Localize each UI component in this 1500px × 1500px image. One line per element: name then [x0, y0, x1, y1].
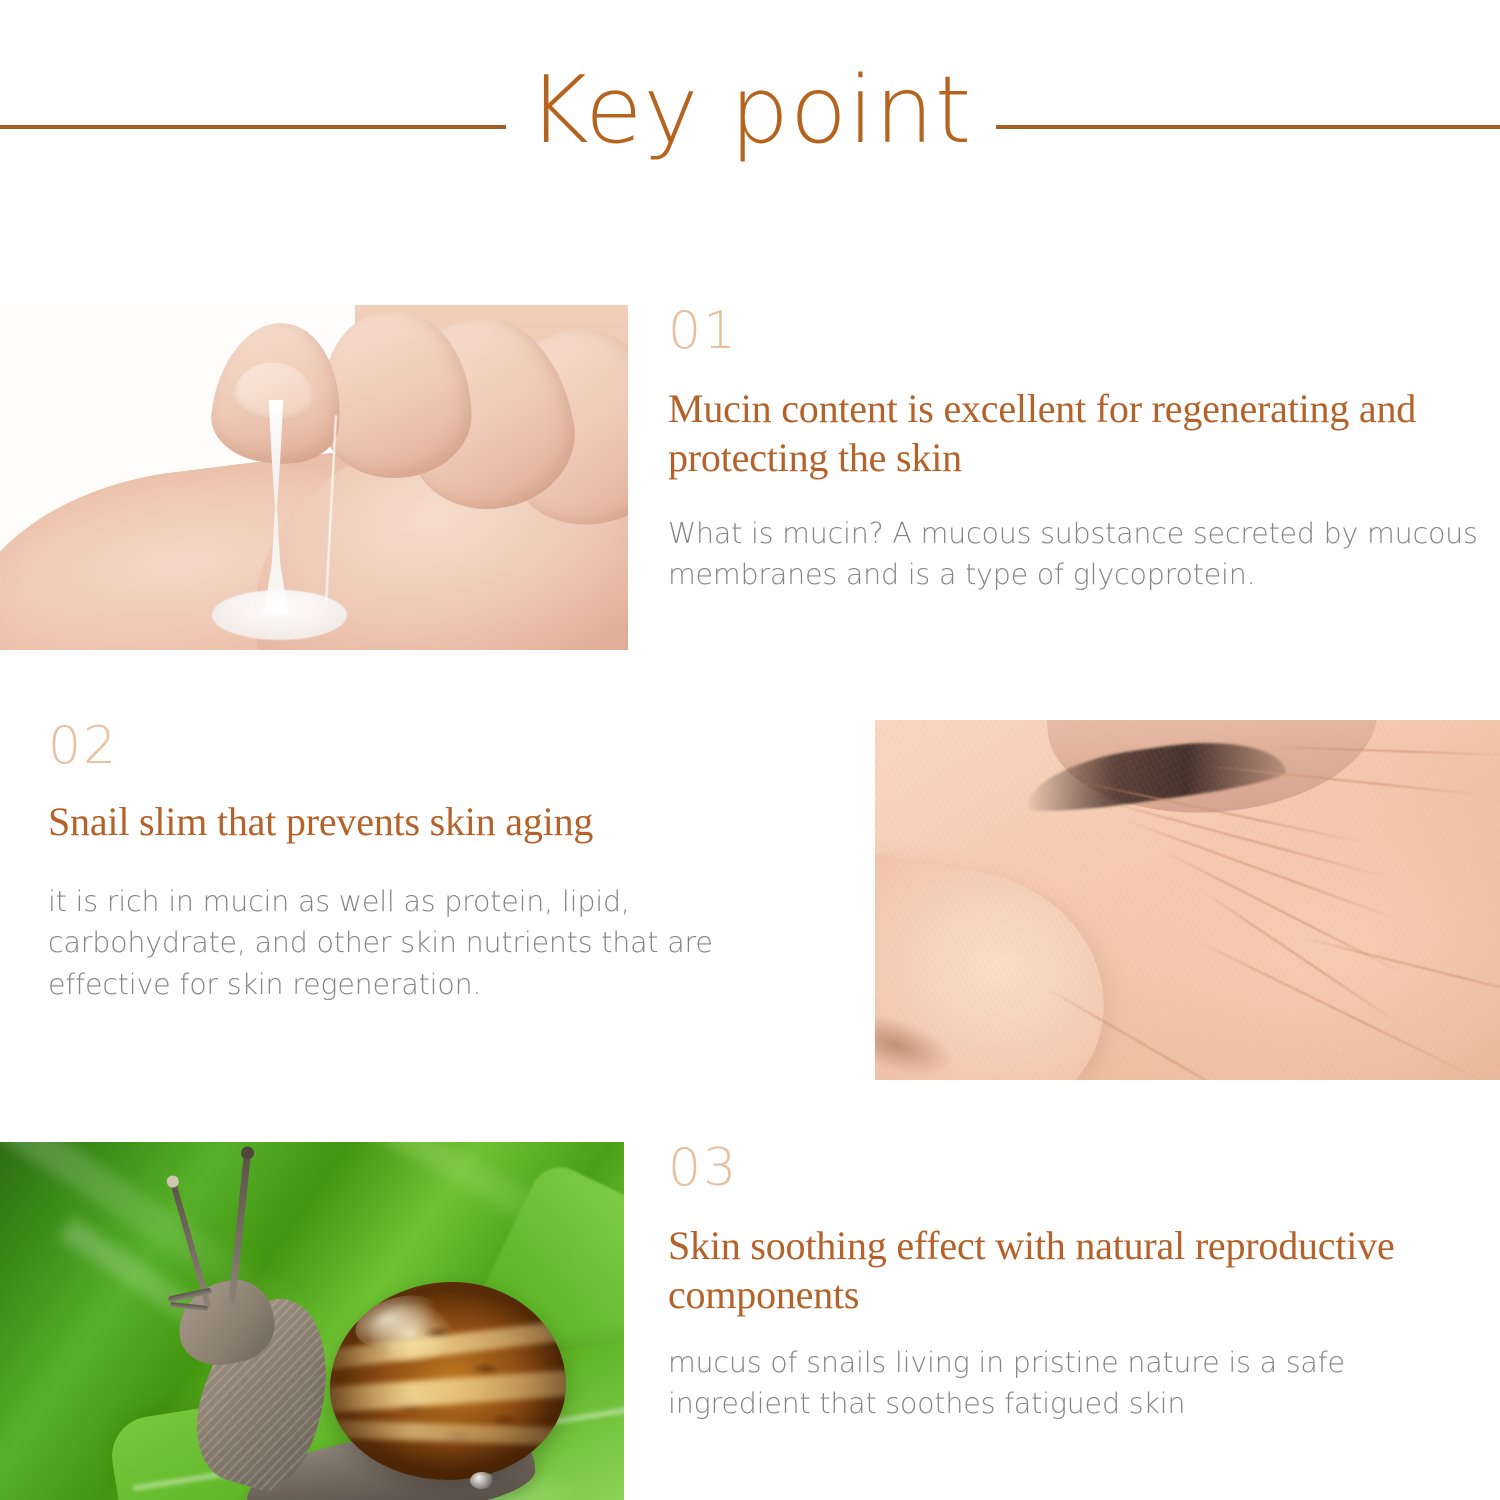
section-03-text: 03 Skin soothing effect with natural rep…: [668, 1142, 1468, 1425]
section-number-01: 01: [668, 305, 1480, 357]
water-droplet: [470, 1472, 494, 1489]
page-title: Key point: [0, 62, 1500, 160]
section-body-02: it is rich in mucin as well as protein, …: [48, 881, 748, 1006]
gel-pool: [212, 590, 347, 640]
image-aging-skin-closeup: [875, 720, 1500, 1080]
section-02: 02 Snail slim that prevents skin aging i…: [0, 720, 1500, 1080]
skin-texture-overlay: [875, 720, 1500, 1080]
section-heading-01: Mucin content is excellent for regenerat…: [668, 385, 1480, 483]
section-heading-02: Snail slim that prevents skin aging: [48, 798, 748, 847]
key-point-infographic: Key point 01 Mucin content is excellent …: [0, 0, 1500, 1500]
section-01: 01 Mucin content is excellent for regene…: [0, 305, 1500, 650]
section-01-text: 01 Mucin content is excellent for regene…: [668, 305, 1480, 596]
section-number-03: 03: [668, 1142, 1468, 1194]
section-body-01: What is mucin? A mucous substance secret…: [668, 513, 1480, 596]
image-hand-with-gel: [0, 305, 628, 650]
image-snail-on-leaf: [0, 1142, 624, 1500]
section-body-03: mucus of snails living in pristine natur…: [668, 1342, 1468, 1425]
snail-shell: [330, 1282, 566, 1480]
section-number-02: 02: [48, 720, 748, 772]
page-header: Key point: [0, 0, 1500, 265]
section-heading-03: Skin soothing effect with natural reprod…: [668, 1222, 1468, 1320]
section-02-text: 02 Snail slim that prevents skin aging i…: [48, 720, 748, 1006]
section-03: 03 Skin soothing effect with natural rep…: [0, 1142, 1500, 1500]
